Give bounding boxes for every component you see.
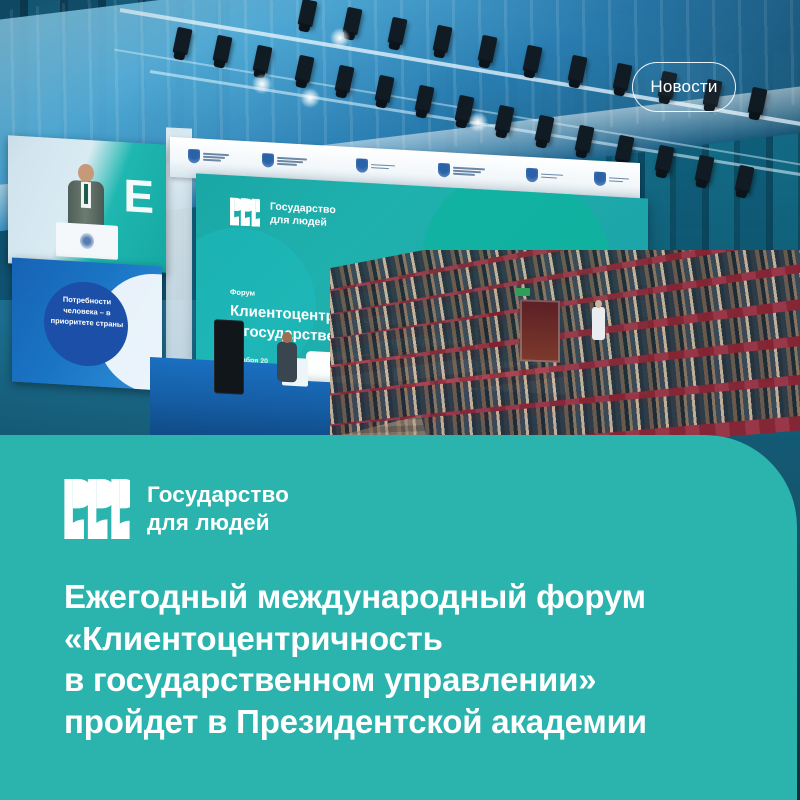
emblem-icon: [188, 149, 200, 164]
left-screen-banner-text: Потребности человека – в приоритете стра…: [48, 294, 126, 331]
spotlight-glow-icon: [468, 112, 488, 132]
three-flags-logo-icon: [64, 479, 130, 539]
brand-lockup: Государство для людей: [64, 479, 289, 539]
stage-screen-brand: Государство для людей: [230, 197, 336, 231]
spotlight-glow-icon: [252, 74, 272, 94]
emblem-icon: [526, 168, 538, 183]
spotlight-glow-icon: [300, 88, 320, 108]
news-badge[interactable]: Новости: [632, 62, 736, 112]
podium-on-screen: [56, 222, 118, 260]
stage-screen-brand-name: Государство для людей: [270, 201, 336, 230]
left-led-screen-video: Е: [8, 135, 166, 272]
standing-attendee: [592, 300, 605, 340]
emblem-icon: [594, 172, 606, 187]
screen-letter: Е: [123, 172, 152, 220]
emblem-icon: [438, 163, 450, 178]
three-flags-logo-icon: [230, 197, 260, 227]
hall-door: [520, 299, 560, 362]
emblem-icon: [262, 153, 274, 168]
spotlight-glow-icon: [330, 28, 350, 48]
exit-sign-icon: [516, 288, 530, 296]
emblem-icon: [356, 158, 368, 173]
headline-text: Ежегодный международный форум «Клиентоце…: [64, 576, 764, 742]
stage-screen-kicker: Форум: [230, 287, 255, 297]
left-led-screen-banner: Потребности человека – в приоритете стра…: [12, 258, 162, 391]
brand-name: Государство для людей: [147, 481, 289, 537]
teal-content-panel: Государство для людей Ежегодный междунар…: [0, 435, 797, 800]
stage-speaker: [276, 331, 298, 386]
stage-loudspeaker-left: [214, 319, 244, 395]
news-card: Е Потребности человека – в приоритете ст…: [0, 0, 800, 800]
